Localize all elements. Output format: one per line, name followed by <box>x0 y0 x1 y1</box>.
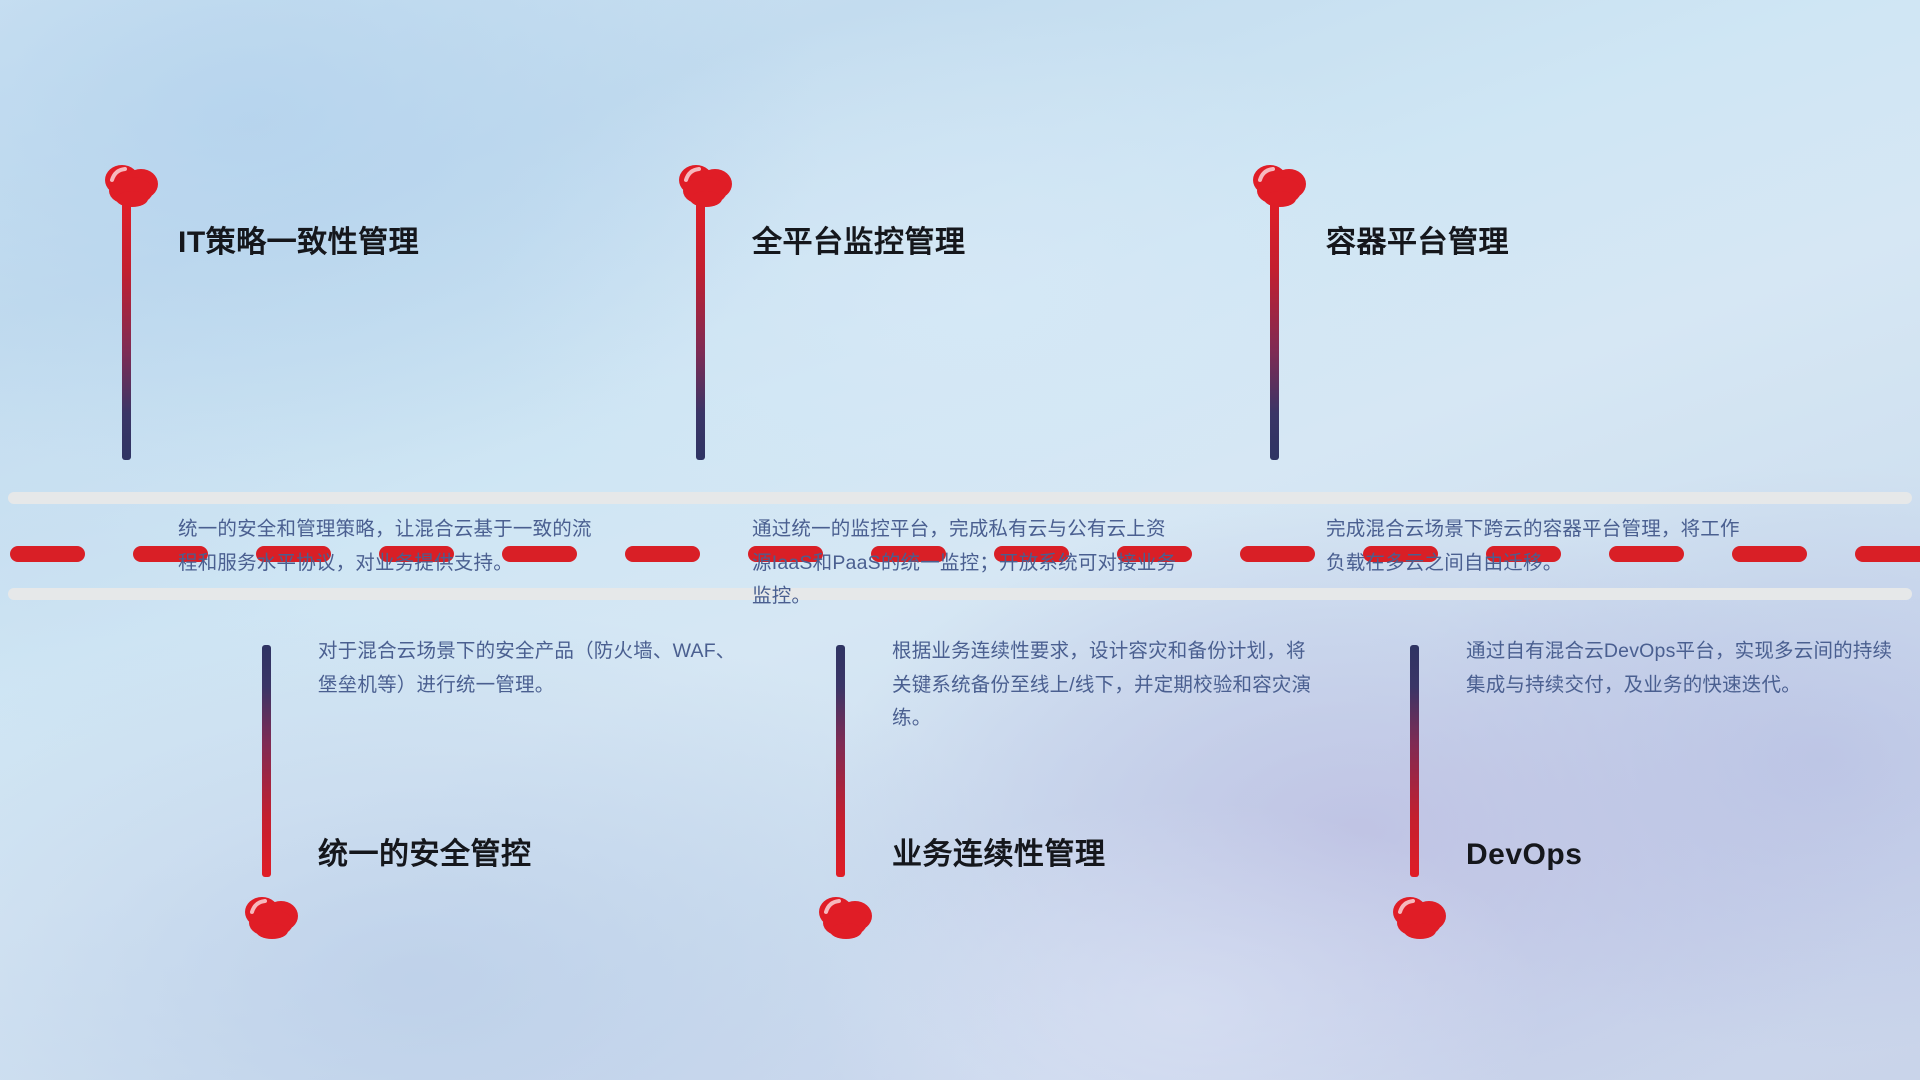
card-body: 根据业务连续性要求，设计容灾和备份计划，将关键系统备份至线上/线下，并定期校验和… <box>892 635 1322 736</box>
connector-line <box>1410 645 1419 877</box>
cloud-icon <box>1246 158 1314 208</box>
card-top-3[interactable]: 容器平台管理 完成混合云场景下跨云的容器平台管理，将工作负载在多云之间自由迁移。 <box>1246 158 1716 458</box>
card-bottom-2[interactable]: 根据业务连续性要求，设计容灾和备份计划，将关键系统备份至线上/线下，并定期校验和… <box>812 635 1282 955</box>
card-body: 对于混合云场景下的安全产品（防火墙、WAF、堡垒机等）进行统一管理。 <box>318 635 748 702</box>
card-title: IT策略一致性管理 <box>178 228 419 258</box>
cloud-icon <box>238 890 306 940</box>
connector-line <box>1270 202 1279 460</box>
connector-line <box>262 645 271 877</box>
card-title: 统一的安全管控 <box>318 840 532 870</box>
connector-line <box>836 645 845 877</box>
card-body: 通过统一的监控平台，完成私有云与公有云上资源IaaS和PaaS的统一监控；开放系… <box>752 513 1182 614</box>
card-title: 容器平台管理 <box>1326 228 1509 258</box>
connector-line <box>696 202 705 460</box>
card-title: 业务连续性管理 <box>892 840 1106 870</box>
road-dash <box>625 546 700 562</box>
road-dash <box>1855 546 1920 562</box>
connector-line <box>122 202 131 460</box>
card-bottom-3[interactable]: 通过自有混合云DevOps平台，实现多云间的持续集成与持续交付，及业务的快速迭代… <box>1386 635 1856 955</box>
card-body: 完成混合云场景下跨云的容器平台管理，将工作负载在多云之间自由迁移。 <box>1326 513 1756 580</box>
card-top-2[interactable]: 全平台监控管理 通过统一的监控平台，完成私有云与公有云上资源IaaS和PaaS的… <box>672 158 1142 458</box>
infographic-canvas: IT策略一致性管理 统一的安全和管理策略，让混合云基于一致的流程和服务水平协议，… <box>0 0 1920 1080</box>
card-top-1[interactable]: IT策略一致性管理 统一的安全和管理策略，让混合云基于一致的流程和服务水平协议，… <box>98 158 568 458</box>
road-dash <box>10 546 85 562</box>
card-title: DevOps <box>1466 840 1582 870</box>
cloud-icon <box>1386 890 1454 940</box>
card-body: 通过自有混合云DevOps平台，实现多云间的持续集成与持续交付，及业务的快速迭代… <box>1466 635 1896 702</box>
road-dash <box>1240 546 1315 562</box>
road-rail-top <box>8 492 1912 504</box>
cloud-icon <box>672 158 740 208</box>
cloud-icon <box>98 158 166 208</box>
cloud-icon <box>812 890 880 940</box>
card-body: 统一的安全和管理策略，让混合云基于一致的流程和服务水平协议，对业务提供支持。 <box>178 513 608 580</box>
card-bottom-1[interactable]: 对于混合云场景下的安全产品（防火墙、WAF、堡垒机等）进行统一管理。 统一的安全… <box>238 635 708 955</box>
card-title: 全平台监控管理 <box>752 228 966 258</box>
